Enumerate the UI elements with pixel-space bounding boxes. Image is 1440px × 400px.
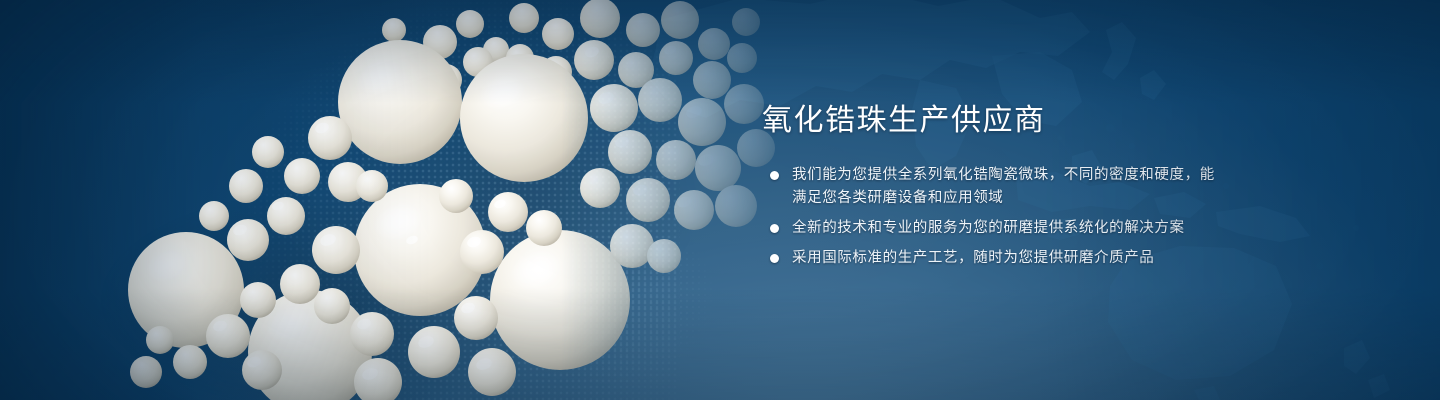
hero-banner: 氧化锆珠生产供应商 我们能为您提供全系列氧化锆陶瓷微珠，不同的密度和硬度，能满足… — [0, 0, 1440, 400]
vignette-overlay — [0, 0, 1440, 400]
